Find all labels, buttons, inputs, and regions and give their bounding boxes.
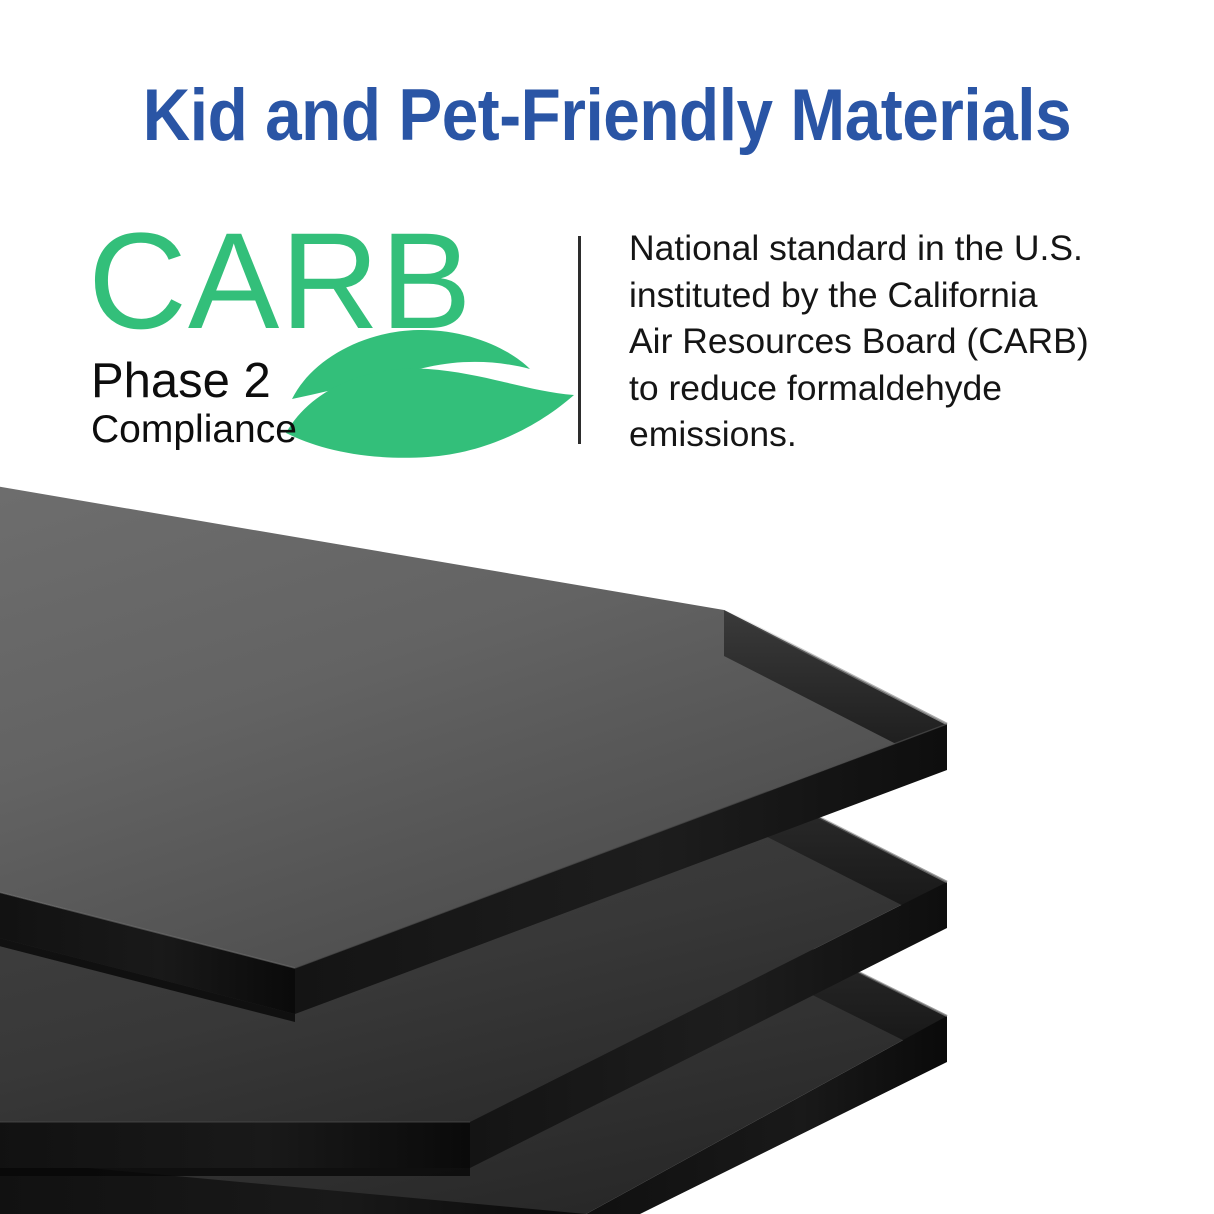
description-line-3: Air Resources Board (CARB) bbox=[629, 318, 1149, 365]
description-line-4: to reduce formaldehyde bbox=[629, 365, 1149, 412]
page-title: Kid and Pet-Friendly Materials bbox=[61, 74, 1154, 158]
description-line-5: emissions. bbox=[629, 411, 1149, 458]
badge-compliance-label: Compliance bbox=[91, 409, 297, 451]
product-image bbox=[0, 462, 1214, 1214]
badge-phase-label: Phase 2 bbox=[91, 355, 271, 407]
carb-acronym: CARB bbox=[88, 213, 473, 350]
carb-badge: CARB Phase 2 Compliance bbox=[88, 213, 558, 453]
description-line-1: National standard in the U.S. bbox=[629, 225, 1149, 272]
description-line-2: instituted by the California bbox=[629, 272, 1149, 319]
vertical-divider bbox=[578, 236, 581, 444]
description-text: National standard in the U.S. instituted… bbox=[629, 225, 1149, 458]
product-infographic-page: Kid and Pet-Friendly Materials CARB Phas… bbox=[0, 0, 1214, 1214]
